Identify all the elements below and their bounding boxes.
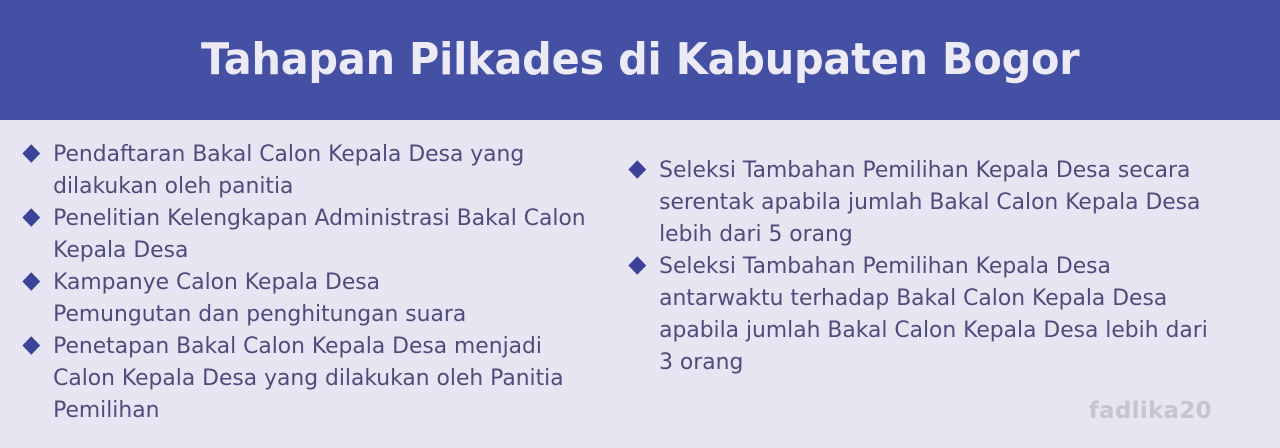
list-item-label: Seleksi Tambahan Pemilihan Kepala Desa a… <box>659 250 1222 378</box>
diamond-bullet-icon <box>22 336 40 354</box>
list-item: Seleksi Tambahan Pemilihan Kepala Desa a… <box>630 250 1222 378</box>
infographic-poster: Tahapan Pilkades di Kabupaten Bogor Pend… <box>0 0 1280 448</box>
list-item: Penetapan Bakal Calon Kepala Desa menjad… <box>24 330 594 426</box>
right-bullet-list: Seleksi Tambahan Pemilihan Kepala Desa s… <box>630 154 1240 378</box>
list-item: Kampanye Calon Kepala Desa Pemungutan da… <box>24 266 594 330</box>
watermark: fadlika20 <box>1089 398 1212 424</box>
page-title: Tahapan Pilkades di Kabupaten Bogor <box>201 37 1079 83</box>
list-item-label: Seleksi Tambahan Pemilihan Kepala Desa s… <box>659 154 1222 250</box>
list-item-label: Penetapan Bakal Calon Kepala Desa menjad… <box>53 330 594 426</box>
list-item-label: Pendaftaran Bakal Calon Kepala Desa yang… <box>53 138 594 202</box>
diamond-bullet-icon <box>22 208 40 226</box>
list-item-label: Penelitian Kelengkapan Administrasi Baka… <box>53 202 594 266</box>
diamond-bullet-icon <box>628 256 646 274</box>
right-column: Seleksi Tambahan Pemilihan Kepala Desa s… <box>620 138 1280 378</box>
diamond-bullet-icon <box>628 160 646 178</box>
diamond-bullet-icon <box>22 272 40 290</box>
left-bullet-list: Pendaftaran Bakal Calon Kepala Desa yang… <box>24 138 612 426</box>
list-item-subline: Pemungutan dan penghitungan suara <box>53 298 594 330</box>
list-item: Penelitian Kelengkapan Administrasi Baka… <box>24 202 594 266</box>
poster-header: Tahapan Pilkades di Kabupaten Bogor <box>0 0 1280 120</box>
diamond-bullet-icon <box>22 144 40 162</box>
left-column: Pendaftaran Bakal Calon Kepala Desa yang… <box>0 138 620 426</box>
list-item-label: Kampanye Calon Kepala Desa <box>53 266 594 298</box>
list-item: Seleksi Tambahan Pemilihan Kepala Desa s… <box>630 154 1222 250</box>
list-item: Pendaftaran Bakal Calon Kepala Desa yang… <box>24 138 594 202</box>
